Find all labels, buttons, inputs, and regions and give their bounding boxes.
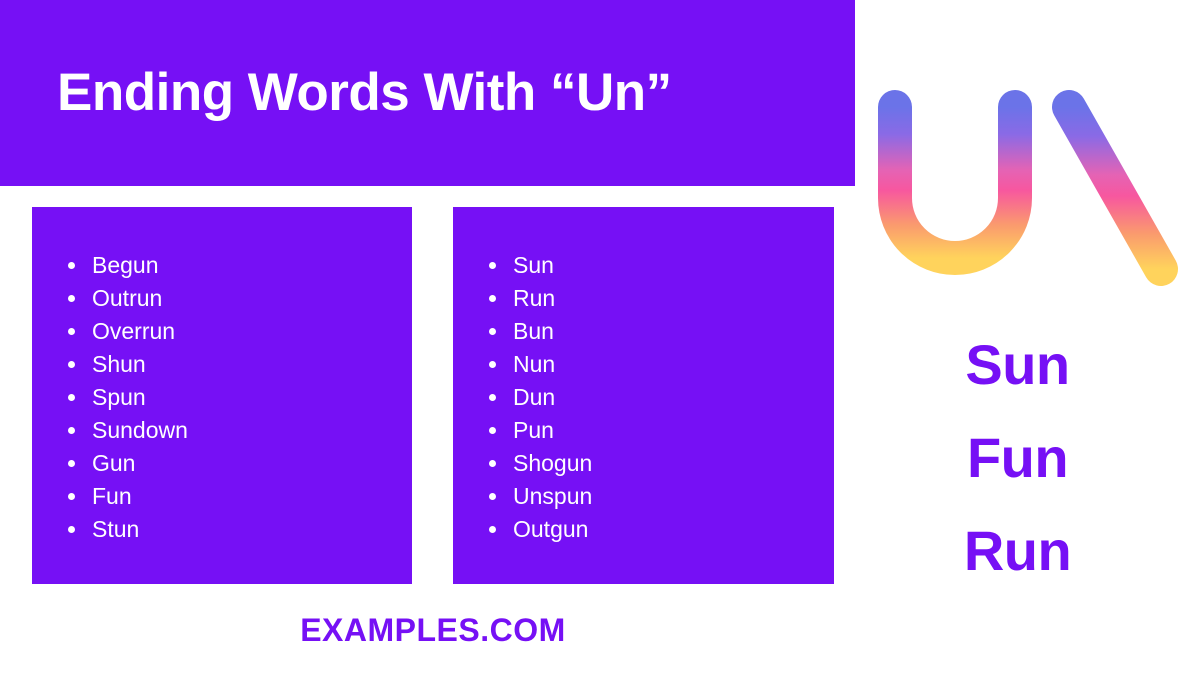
- word-label: Shun: [92, 351, 146, 377]
- word-label: Spun: [92, 384, 146, 410]
- word-label: Outrun: [92, 285, 162, 311]
- word-label: Shogun: [513, 450, 592, 476]
- list-item: Bun: [471, 315, 834, 348]
- word-label: Nun: [513, 351, 555, 377]
- bullet-icon: [489, 262, 496, 269]
- header-bar: Ending Words With “Un”: [0, 0, 855, 186]
- bullet-icon: [489, 361, 496, 368]
- word-label: Bun: [513, 318, 554, 344]
- bullet-icon: [68, 262, 75, 269]
- bullet-icon: [68, 328, 75, 335]
- word-label: Fun: [92, 483, 132, 509]
- list-item: Sun: [471, 249, 834, 282]
- bullet-icon: [68, 394, 75, 401]
- list-item: Spun: [50, 381, 412, 414]
- list-item: Fun: [50, 480, 412, 513]
- poster-canvas: Ending Words With “Un” Begun Outrun Over…: [0, 0, 1200, 675]
- list-item: Sundown: [50, 414, 412, 447]
- bullet-icon: [489, 295, 496, 302]
- sidebar-word: Fun: [855, 411, 1180, 504]
- un-logo-icon: [873, 88, 1183, 288]
- bullet-icon: [489, 460, 496, 467]
- bullet-icon: [489, 394, 496, 401]
- list-item: Dun: [471, 381, 834, 414]
- bullet-icon: [68, 295, 75, 302]
- word-label: Unspun: [513, 483, 592, 509]
- bullet-icon: [489, 493, 496, 500]
- sidebar-word-list: Sun Fun Run: [855, 318, 1180, 597]
- left-word-panel: Begun Outrun Overrun Shun Spun Sundown G…: [32, 207, 412, 584]
- right-word-panel: Sun Run Bun Nun Dun Pun Shogun Unspun Ou…: [453, 207, 834, 584]
- word-label: Outgun: [513, 516, 588, 542]
- word-label: Begun: [92, 252, 159, 278]
- left-word-list: Begun Outrun Overrun Shun Spun Sundown G…: [32, 207, 412, 546]
- bullet-icon: [68, 361, 75, 368]
- list-item: Stun: [50, 513, 412, 546]
- list-item: Run: [471, 282, 834, 315]
- bullet-icon: [68, 526, 75, 533]
- bullet-icon: [68, 493, 75, 500]
- list-item: Nun: [471, 348, 834, 381]
- word-label: Gun: [92, 450, 135, 476]
- list-item: Begun: [50, 249, 412, 282]
- list-item: Shogun: [471, 447, 834, 480]
- list-item: Unspun: [471, 480, 834, 513]
- list-item: Pun: [471, 414, 834, 447]
- bullet-icon: [68, 460, 75, 467]
- word-label: Overrun: [92, 318, 175, 344]
- brand-watermark: EXAMPLES.COM: [32, 612, 834, 649]
- sidebar: Sun Fun Run: [855, 0, 1200, 675]
- list-item: Overrun: [50, 315, 412, 348]
- page-title: Ending Words With “Un”: [0, 65, 672, 121]
- sidebar-word: Run: [855, 504, 1180, 597]
- word-label: Dun: [513, 384, 555, 410]
- list-item: Gun: [50, 447, 412, 480]
- sidebar-word: Sun: [855, 318, 1180, 411]
- word-label: Pun: [513, 417, 554, 443]
- list-item: Outgun: [471, 513, 834, 546]
- bullet-icon: [489, 526, 496, 533]
- word-label: Sundown: [92, 417, 188, 443]
- list-item: Shun: [50, 348, 412, 381]
- bullet-icon: [489, 427, 496, 434]
- word-label: Stun: [92, 516, 139, 542]
- word-label: Sun: [513, 252, 554, 278]
- list-item: Outrun: [50, 282, 412, 315]
- bullet-icon: [489, 328, 496, 335]
- right-word-list: Sun Run Bun Nun Dun Pun Shogun Unspun Ou…: [453, 207, 834, 546]
- bullet-icon: [68, 427, 75, 434]
- word-label: Run: [513, 285, 555, 311]
